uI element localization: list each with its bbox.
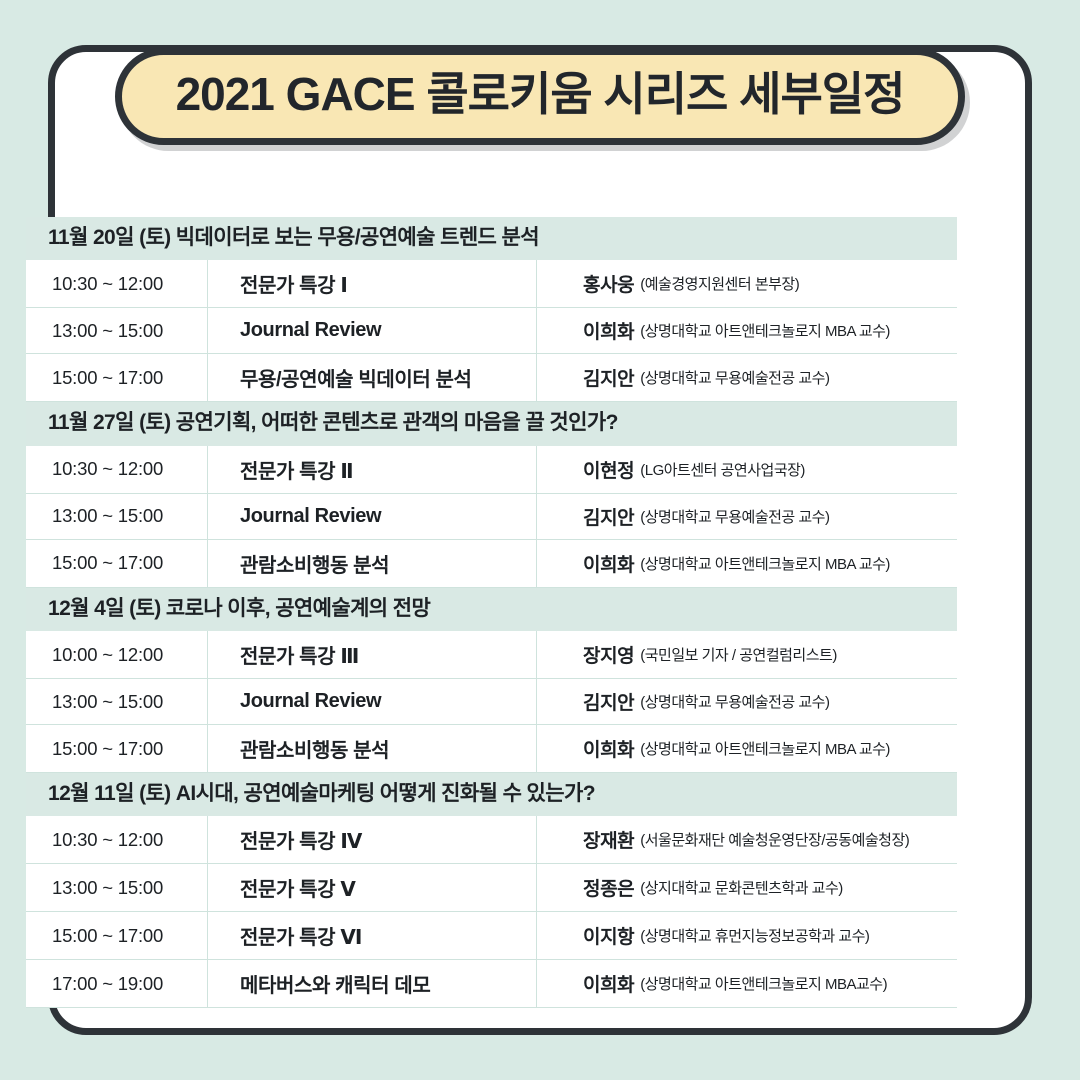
table-row: 10:30 ~ 12:00전문가 특강 Ⅱ이현정(LG아트센터 공연사업국장) [26,446,957,494]
speaker-affiliation: (상명대학교 무용예술전공 교수) [640,691,829,712]
table-row: 10:30 ~ 12:00전문가 특강 Ⅳ장재환(서울문화재단 예술청운영단장/… [26,816,957,864]
table-row: 15:00 ~ 17:00관람소비행동 분석이희화(상명대학교 아트앤테크놀로지… [26,725,957,773]
cell-time: 10:00 ~ 12:00 [26,631,208,678]
cell-time: 13:00 ~ 15:00 [26,864,208,911]
speaker-affiliation: (LG아트센터 공연사업국장) [640,459,805,480]
page-title: 2021 GACE 콜로키움 시리즈 세부일정 [176,67,905,122]
speaker-name: 이희화 [583,317,634,344]
cell-time: 13:00 ~ 15:00 [26,308,208,353]
speaker-name: 이희화 [583,735,634,762]
schedule-section: 12월 11일 (토) AI시대, 공연예술마케팅 어떻게 진화될 수 있는가?… [26,773,957,1008]
poster-title-area: 2021 GACE 콜로키움 시리즈 세부일정 [0,48,1080,145]
table-row: 15:00 ~ 17:00전문가 특강 Ⅵ이지항(상명대학교 휴먼지능정보공학과… [26,912,957,960]
section-header: 11월 20일 (토) 빅데이터로 보는 무용/공연예술 트렌드 분석 [26,217,957,260]
cell-time: 15:00 ~ 17:00 [26,725,208,772]
table-row: 10:30 ~ 12:00전문가 특강 Ⅰ홍사웅(예술경영지원센터 본부장) [26,260,957,308]
cell-speaker: 장재환(서울문화재단 예술청운영단장/공동예술청장) [537,816,957,863]
speaker-affiliation: (상명대학교 아트앤테크놀로지 MBA 교수) [640,553,890,574]
cell-speaker: 김지안(상명대학교 무용예술전공 교수) [537,679,957,724]
table-row: 13:00 ~ 15:00Journal Review이희화(상명대학교 아트앤… [26,308,957,354]
section-header: 12월 11일 (토) AI시대, 공연예술마케팅 어떻게 진화될 수 있는가? [26,773,957,816]
cell-topic: Journal Review [208,308,537,353]
cell-time: 15:00 ~ 17:00 [26,912,208,959]
cell-topic: 전문가 특강 Ⅴ [208,864,537,911]
cell-speaker: 이희화(상명대학교 아트앤테크놀로지 MBA 교수) [537,308,957,353]
speaker-name: 김지안 [583,364,634,391]
cell-topic: 관람소비행동 분석 [208,725,537,772]
cell-time: 13:00 ~ 15:00 [26,679,208,724]
schedule-section: 11월 27일 (토) 공연기획, 어떠한 콘텐츠로 관객의 마음을 끌 것인가… [26,402,957,587]
table-row: 15:00 ~ 17:00무용/공연예술 빅데이터 분석김지안(상명대학교 무용… [26,354,957,402]
table-row: 13:00 ~ 15:00Journal Review김지안(상명대학교 무용예… [26,494,957,540]
speaker-affiliation: (예술경영지원센터 본부장) [640,273,799,294]
cell-speaker: 이희화(상명대학교 아트앤테크놀로지 MBA 교수) [537,725,957,772]
cell-speaker: 이희화(상명대학교 아트앤테크놀로지 MBA 교수) [537,540,957,587]
speaker-name: 이희화 [583,970,634,997]
cell-time: 10:30 ~ 12:00 [26,446,208,493]
table-row: 13:00 ~ 15:00Journal Review김지안(상명대학교 무용예… [26,679,957,725]
cell-time: 13:00 ~ 15:00 [26,494,208,539]
speaker-name: 이현정 [583,456,634,483]
table-row: 10:00 ~ 12:00전문가 특강 Ⅲ장지영(국민일보 기자 / 공연컬럼리… [26,631,957,679]
schedule-section: 12월 4일 (토) 코로나 이후, 공연예술계의 전망10:00 ~ 12:0… [26,588,957,773]
speaker-name: 홍사웅 [583,270,634,297]
speaker-name: 정종은 [583,874,634,901]
cell-topic: 전문가 특강 Ⅱ [208,446,537,493]
speaker-affiliation: (상명대학교 휴먼지능정보공학과 교수) [640,925,869,946]
cell-topic: 무용/공연예술 빅데이터 분석 [208,354,537,401]
speaker-affiliation: (상명대학교 아트앤테크놀로지 MBA 교수) [640,738,890,759]
cell-time: 10:30 ~ 12:00 [26,260,208,307]
cell-speaker: 이지항(상명대학교 휴먼지능정보공학과 교수) [537,912,957,959]
speaker-name: 장재환 [583,826,634,853]
cell-speaker: 이현정(LG아트센터 공연사업국장) [537,446,957,493]
cell-time: 17:00 ~ 19:00 [26,960,208,1007]
cell-speaker: 홍사웅(예술경영지원센터 본부장) [537,260,957,307]
speaker-affiliation: (상명대학교 아트앤테크놀로지 MBA 교수) [640,320,890,341]
cell-speaker: 김지안(상명대학교 무용예술전공 교수) [537,494,957,539]
title-pill: 2021 GACE 콜로키움 시리즈 세부일정 [115,48,966,145]
cell-speaker: 정종은(상지대학교 문화콘텐츠학과 교수) [537,864,957,911]
cell-topic: 전문가 특강 Ⅳ [208,816,537,863]
speaker-affiliation: (상지대학교 문화콘텐츠학과 교수) [640,877,843,898]
speaker-name: 이희화 [583,550,634,577]
cell-topic: 전문가 특강 Ⅵ [208,912,537,959]
speaker-affiliation: (서울문화재단 예술청운영단장/공동예술청장) [640,829,909,850]
speaker-name: 김지안 [583,503,634,530]
speaker-name: 이지항 [583,922,634,949]
speaker-affiliation: (상명대학교 무용예술전공 교수) [640,367,829,388]
cell-topic: Journal Review [208,494,537,539]
table-row: 15:00 ~ 17:00관람소비행동 분석이희화(상명대학교 아트앤테크놀로지… [26,540,957,588]
speaker-affiliation: (상명대학교 아트앤테크놀로지 MBA교수) [640,973,887,994]
speaker-name: 장지영 [583,641,634,668]
cell-topic: 메타버스와 캐릭터 데모 [208,960,537,1007]
speaker-affiliation: (상명대학교 무용예술전공 교수) [640,506,829,527]
cell-topic: 전문가 특강 Ⅲ [208,631,537,678]
section-header: 11월 27일 (토) 공연기획, 어떠한 콘텐츠로 관객의 마음을 끌 것인가… [26,402,957,445]
schedule-section: 11월 20일 (토) 빅데이터로 보는 무용/공연예술 트렌드 분석10:30… [26,217,957,402]
cell-topic: Journal Review [208,679,537,724]
section-header: 12월 4일 (토) 코로나 이후, 공연예술계의 전망 [26,588,957,631]
schedule-table: 11월 20일 (토) 빅데이터로 보는 무용/공연예술 트렌드 분석10:30… [26,217,957,1008]
speaker-name: 김지안 [583,688,634,715]
cell-speaker: 김지안(상명대학교 무용예술전공 교수) [537,354,957,401]
cell-speaker: 이희화(상명대학교 아트앤테크놀로지 MBA교수) [537,960,957,1007]
speaker-affiliation: (국민일보 기자 / 공연컬럼리스트) [640,644,837,665]
cell-speaker: 장지영(국민일보 기자 / 공연컬럼리스트) [537,631,957,678]
table-row: 13:00 ~ 15:00전문가 특강 Ⅴ정종은(상지대학교 문화콘텐츠학과 교… [26,864,957,912]
cell-time: 15:00 ~ 17:00 [26,540,208,587]
cell-topic: 전문가 특강 Ⅰ [208,260,537,307]
cell-topic: 관람소비행동 분석 [208,540,537,587]
poster: 2021 GACE 콜로키움 시리즈 세부일정 11월 20일 (토) 빅데이터… [0,0,1080,1080]
table-row: 17:00 ~ 19:00메타버스와 캐릭터 데모이희화(상명대학교 아트앤테크… [26,960,957,1008]
cell-time: 15:00 ~ 17:00 [26,354,208,401]
cell-time: 10:30 ~ 12:00 [26,816,208,863]
